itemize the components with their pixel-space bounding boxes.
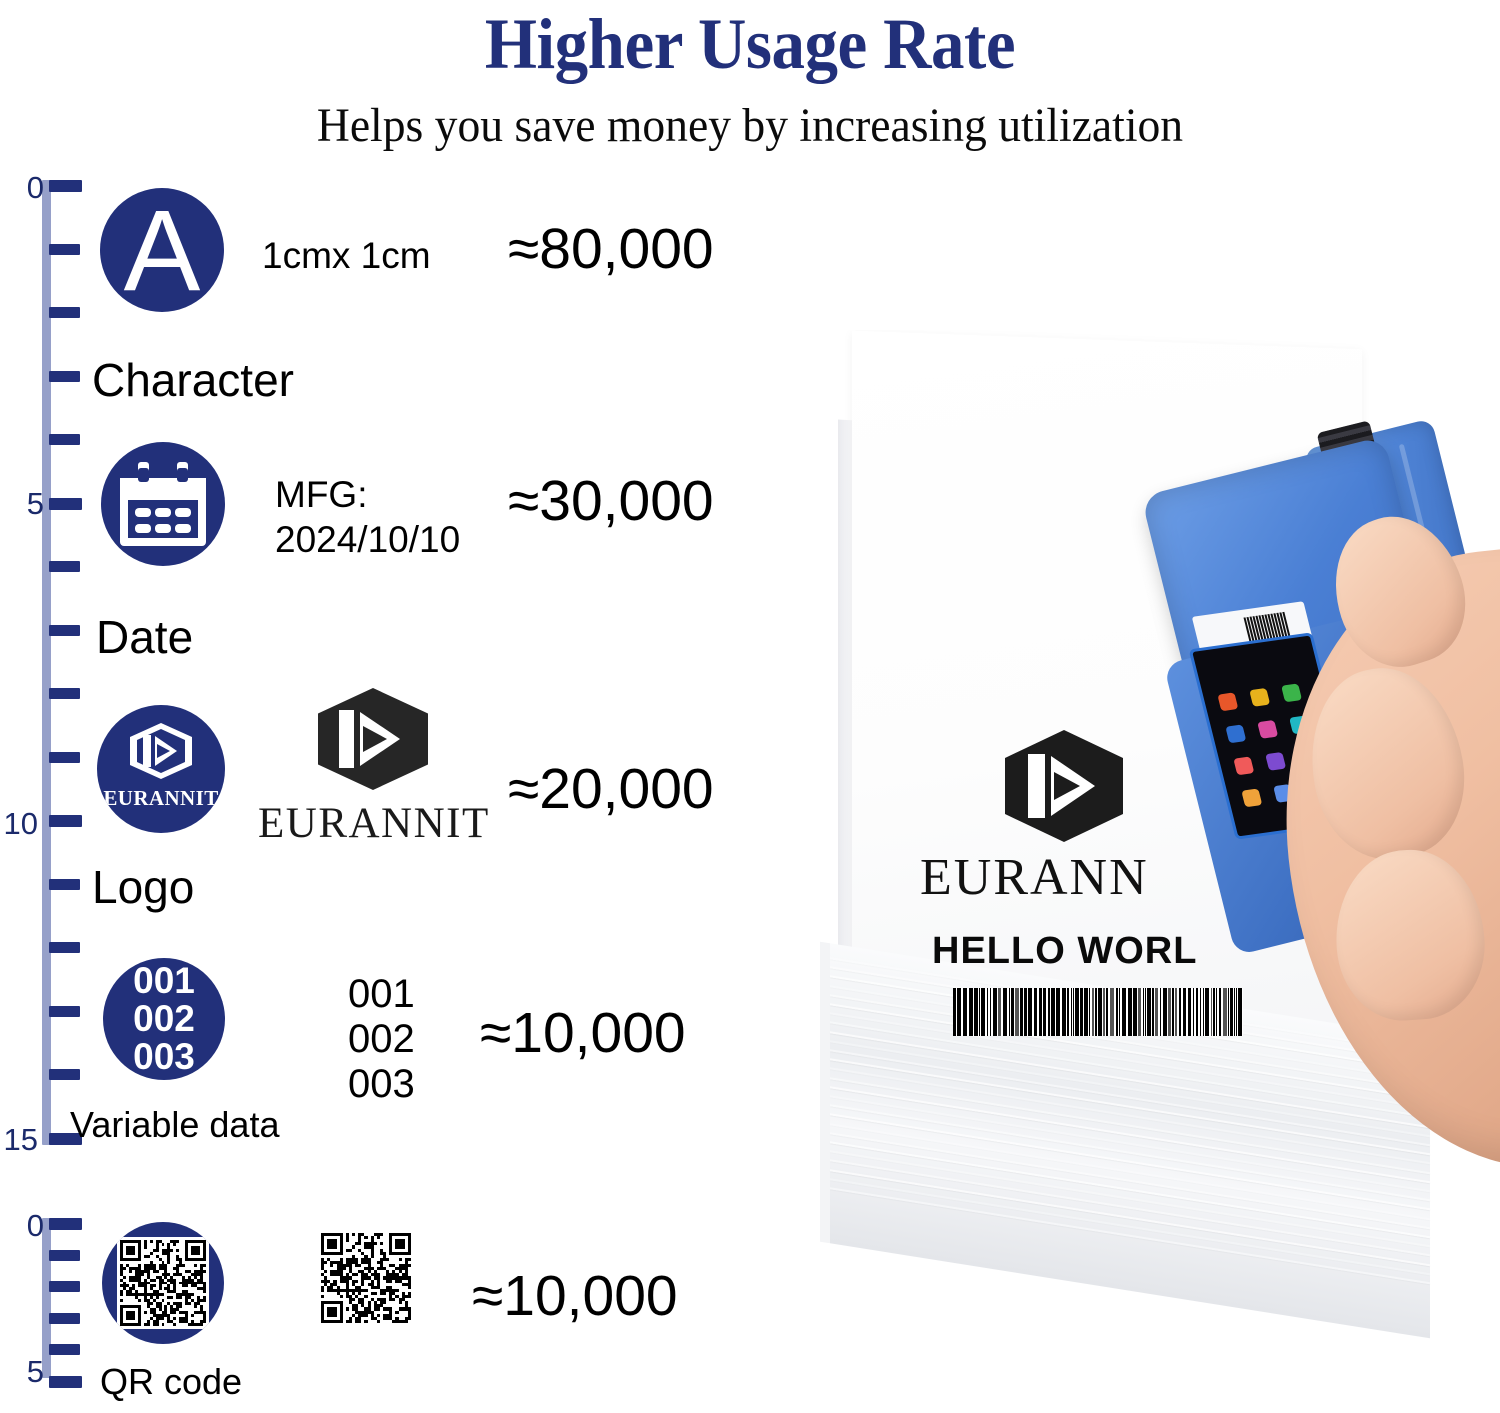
ruler-label-10: 10: [0, 808, 38, 839]
device-app-icon[interactable]: [1233, 756, 1254, 775]
ruler-tick: [49, 815, 82, 827]
ruler-tick: [49, 180, 82, 192]
ruler-tick: [49, 1250, 80, 1261]
row-sample-qr-code: [318, 1230, 414, 1326]
calendar-dot: [175, 524, 191, 533]
calendar-ring-hole-left: [138, 468, 149, 482]
barcode-bar: [993, 988, 997, 1036]
ruler-tick: [49, 561, 80, 572]
barcode-bar: [1092, 988, 1094, 1036]
ruler-lower: [42, 1218, 82, 1378]
ruler-tick: [49, 1313, 80, 1324]
barcode-bar: [1133, 988, 1137, 1036]
printed-hex-bar: [1028, 754, 1045, 818]
barcode-bar: [1110, 988, 1114, 1036]
calendar-glyph: [120, 462, 206, 546]
eurannit-logo-wordmark: EURANNIT: [258, 800, 490, 848]
row-sample-date: MFG: 2024/10/10: [275, 472, 460, 562]
barcode-bar: [1098, 988, 1102, 1036]
qr-cell: [203, 1323, 206, 1326]
paper-sheet-line: [830, 1187, 1430, 1284]
ruler-label-5: 5: [0, 488, 44, 519]
barcode-bar: [1056, 988, 1060, 1036]
calendar-dot: [135, 508, 151, 517]
qr-cell: [408, 1320, 411, 1323]
ruler-tick: [49, 1376, 82, 1388]
printed-brand-text: EURANN: [920, 850, 1149, 906]
letter-a-glyph: A: [124, 194, 201, 309]
barcode-bar: [953, 988, 956, 1036]
ruler-label-lower-0: 0: [0, 1210, 44, 1241]
ruler-tick: [49, 244, 80, 255]
infographic-root: Higher Usage Rate Helps you save money b…: [0, 0, 1500, 1413]
barcode-bar: [1128, 988, 1132, 1036]
paper-sheet-line: [830, 1160, 1430, 1257]
ruler-tick: [49, 942, 80, 953]
device-app-icon[interactable]: [1265, 752, 1286, 771]
barcode-bar: [1062, 988, 1066, 1036]
eurannit-badge-icon: EURANNIT: [97, 705, 225, 833]
ruler-label-15: 15: [0, 1124, 38, 1155]
device-app-icon[interactable]: [1249, 688, 1270, 707]
ruler-tick: [49, 1218, 82, 1230]
eurannit-logo-hexagon: [318, 688, 428, 790]
barcode-bar: [1080, 988, 1083, 1036]
device-app-icon[interactable]: [1217, 692, 1238, 711]
barcode-bar: [1089, 988, 1090, 1036]
ruler-upper: [42, 180, 82, 1145]
barcode-bar: [969, 988, 973, 1036]
ruler-spine: [42, 180, 51, 1145]
barcode-bar: [963, 988, 967, 1036]
qr-code-glyph: [117, 1237, 209, 1329]
variable-data-icon: 001 002 003: [103, 958, 225, 1080]
eurannit-badge-label: EURANNIT: [97, 787, 225, 810]
calendar-ring-hole-right: [177, 468, 188, 482]
row-label-qr-code: QR code: [100, 1362, 242, 1402]
ruler-tick: [49, 752, 80, 763]
row-sample-character: 1cmx 1cm: [262, 233, 431, 278]
ruler-tick: [49, 625, 80, 636]
ruler-tick: [49, 1344, 80, 1355]
logo-hex-bar: [339, 710, 354, 768]
barcode-bar: [1024, 988, 1027, 1036]
barcode-bar: [998, 988, 1001, 1036]
ruler-tick: [49, 434, 80, 445]
barcode-bar: [1095, 988, 1097, 1036]
row-label-character: Character: [92, 355, 294, 405]
barcode-bar: [987, 988, 988, 1036]
barcode-bar: [1048, 988, 1050, 1036]
row-count-character: ≈80,000: [508, 218, 714, 280]
handheld-printer-device: [1140, 420, 1500, 1160]
printed-logo-hexagon: [1005, 730, 1123, 842]
barcode-bar: [957, 988, 961, 1036]
qr-code-icon: [102, 1222, 224, 1344]
barcode-bar: [1071, 988, 1072, 1036]
barcode-bar: [1103, 988, 1105, 1036]
barcode-bar: [974, 988, 978, 1036]
ruler-tick: [49, 1069, 80, 1080]
ruler-tick: [49, 1006, 80, 1017]
variable-data-glyph: 001 002 003: [103, 962, 225, 1075]
paper-sheet-line: [830, 1178, 1430, 1275]
barcode-bar: [1075, 988, 1079, 1036]
row-label-date: Date: [96, 612, 193, 662]
row-label-variable-data: Variable data: [70, 1105, 279, 1145]
barcode-bar: [1043, 988, 1046, 1036]
page-subtitle: Helps you save money by increasing utili…: [38, 98, 1463, 154]
ruler-tick: [49, 498, 82, 510]
barcode-bar: [1084, 988, 1088, 1036]
calendar-dot: [155, 508, 171, 517]
row-sample-variable-data: 001 002 003: [348, 972, 415, 1107]
calendar-icon: [101, 442, 225, 566]
barcode-bar: [1051, 988, 1055, 1036]
device-app-icon[interactable]: [1241, 788, 1262, 807]
ruler-label-lower-5: 5: [0, 1356, 44, 1387]
barcode-bar: [1028, 988, 1032, 1036]
ruler-label-0: 0: [0, 172, 44, 203]
barcode-bar: [979, 988, 980, 1036]
barcode-bar: [1067, 988, 1069, 1036]
barcode-bar: [1003, 988, 1007, 1036]
barcode-bar: [1106, 988, 1108, 1036]
barcode-bar: [981, 988, 985, 1036]
ruler-tick: [49, 1281, 80, 1292]
barcode-bar: [1011, 988, 1014, 1036]
calendar-dot: [135, 524, 151, 533]
device-app-icon[interactable]: [1281, 683, 1302, 702]
barcode-bar: [1119, 988, 1121, 1036]
barcode-bar: [1009, 988, 1010, 1036]
row-count-date: ≈30,000: [508, 470, 714, 532]
ruler-tick: [49, 307, 80, 318]
paper-sheet-line: [830, 1150, 1430, 1247]
ruler-tick: [49, 688, 80, 699]
device-app-icon[interactable]: [1225, 724, 1246, 743]
calendar-dot: [155, 524, 171, 533]
barcode-bar: [1116, 988, 1118, 1036]
barcode-bar: [1073, 988, 1074, 1036]
device-app-icon[interactable]: [1257, 720, 1278, 739]
row-count-variable-data: ≈10,000: [480, 1002, 686, 1064]
barcode-bar: [1034, 988, 1037, 1036]
calendar-dot: [175, 508, 191, 517]
ruler-tick: [49, 879, 80, 890]
product-photo: EURANN HELLO WORL: [760, 330, 1500, 1360]
barcode-bar: [990, 988, 991, 1036]
barcode-bar: [1020, 988, 1023, 1036]
row-count-qr-code: ≈10,000: [472, 1265, 678, 1327]
paper-sheet-line: [830, 1169, 1430, 1266]
ruler-tick: [49, 371, 80, 382]
barcode-bar: [1015, 988, 1019, 1036]
letter-a-icon: A: [100, 188, 224, 312]
eurannit-hex-mark: [130, 723, 192, 779]
barcode-bar: [1122, 988, 1126, 1036]
barcode-bar: [1039, 988, 1042, 1036]
row-count-logo: ≈20,000: [508, 758, 714, 820]
row-label-logo: Logo: [92, 862, 194, 912]
hex-bar: [143, 735, 151, 767]
page-title: Higher Usage Rate: [53, 2, 1448, 86]
